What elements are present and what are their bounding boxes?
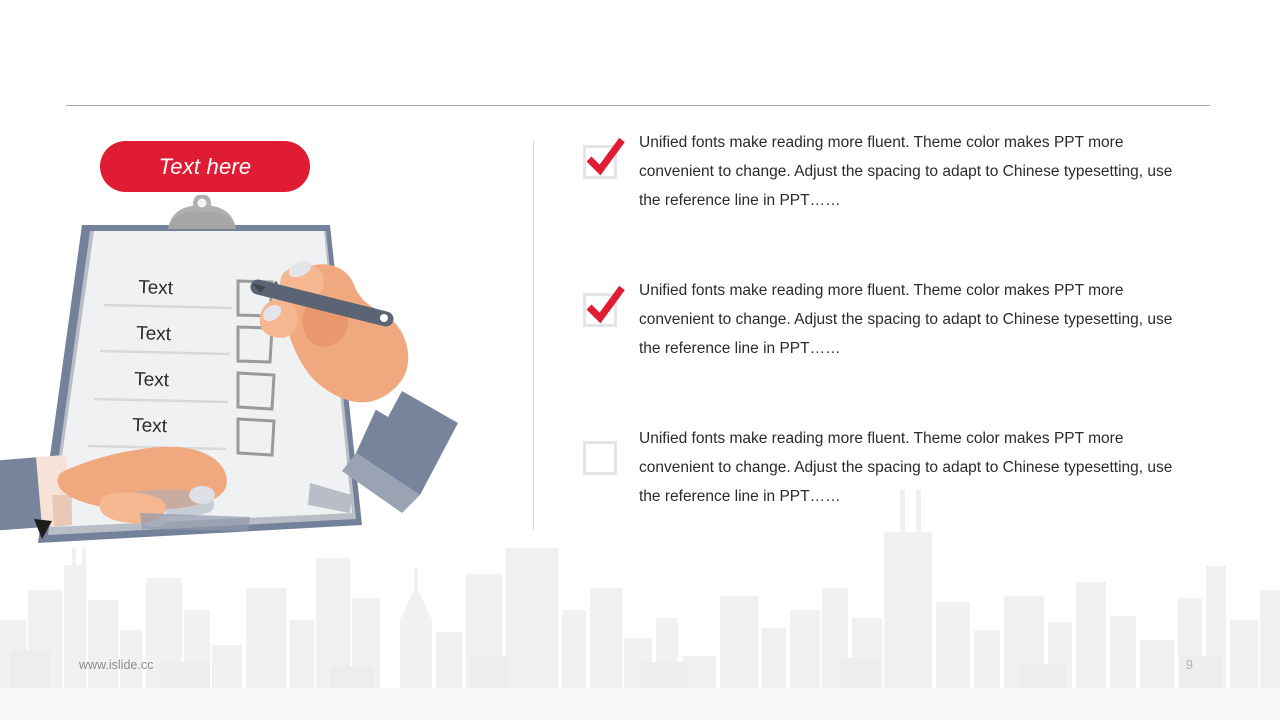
footer-band	[0, 688, 1280, 720]
clipboard-row-3-label: Text	[134, 369, 170, 391]
clipboard-row-1-label: Text	[138, 277, 174, 299]
list-item-text: Unified fonts make reading more fluent. …	[639, 128, 1195, 215]
pen-end-cap	[380, 314, 388, 322]
checkbox-2[interactable]	[583, 293, 617, 327]
check-icon	[581, 283, 627, 329]
checkbox-3[interactable]	[583, 441, 617, 475]
text-here-badge[interactable]: Text here	[100, 141, 310, 192]
clipboard-row-2-label: Text	[136, 323, 172, 345]
clipboard-clip-ring-inner	[198, 199, 207, 208]
clipboard-checklist-illustration: Text Text Text Text	[0, 195, 490, 575]
slide-canvas: Text here Text Text Text Text	[0, 0, 1280, 720]
column-divider-rule	[533, 140, 534, 530]
check-icon	[581, 135, 627, 181]
list-item[interactable]: Unified fonts make reading more fluent. …	[583, 276, 1203, 368]
list-item-text: Unified fonts make reading more fluent. …	[639, 424, 1195, 511]
list-item-text: Unified fonts make reading more fluent. …	[639, 276, 1195, 363]
left-finger-nail-2	[189, 486, 215, 504]
list-item[interactable]: Unified fonts make reading more fluent. …	[583, 424, 1203, 516]
clipboard-row-4-label: Text	[132, 415, 168, 437]
pen-mark-dot	[274, 281, 277, 284]
checkbox-1[interactable]	[583, 145, 617, 179]
text-here-badge-label: Text here	[159, 154, 252, 180]
list-item[interactable]: Unified fonts make reading more fluent. …	[583, 128, 1203, 220]
header-divider-rule	[66, 105, 1210, 106]
checkbox-box	[583, 441, 617, 475]
footer-url[interactable]: www.islide.cc	[79, 658, 153, 672]
left-cuff-shadow	[52, 495, 72, 527]
page-number: 9	[1186, 658, 1193, 672]
checklist-list: Unified fonts make reading more fluent. …	[583, 128, 1203, 516]
